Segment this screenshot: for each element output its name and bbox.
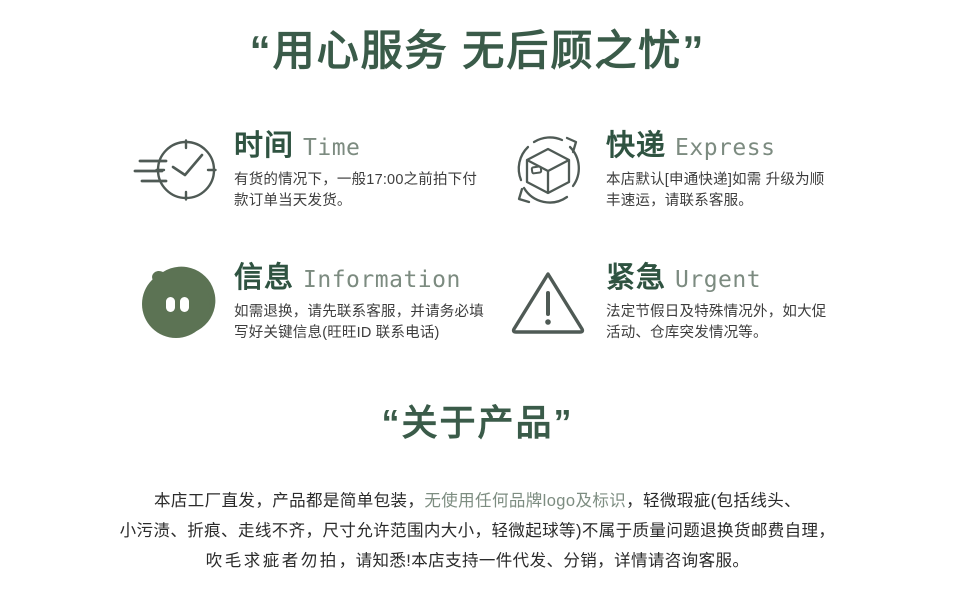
- feature-desc-urgent: 法定节假日及特殊情况外，如大促活动、仓库突发情况等。: [606, 302, 838, 344]
- feature-body-time: 时间Time 有货的情况下，一般17:00之前拍下付款订单当天发货。: [234, 126, 484, 212]
- service-info-page: “用心服务 无后顾之忧” 时间Time: [0, 0, 955, 600]
- feature-body-express: 快递Express 本店默认[申通快递]如需 升级为顺丰速运，请联系客服。: [606, 126, 838, 212]
- about-line-3-rest: ，请知悉!本店支持一件代发、分销，详情请咨询客服。: [339, 552, 750, 570]
- about-line-2: 小污渍、折痕、走线不齐，尺寸允许范围内大小，轻微起球等)不属于质量问题退换货邮费…: [0, 516, 955, 546]
- feature-item-urgent: 紧急Urgent 法定节假日及特殊情况外，如大促活动、仓库突发情况等。: [504, 258, 838, 390]
- product-headline: “关于产品”: [0, 400, 955, 446]
- feature-item-information: 信息Information 如需退换，请先联系客服，并请务必填写好关键信息(旺旺…: [132, 258, 504, 390]
- about-line-3-spaced: 吹毛求疵者勿拍: [206, 552, 339, 570]
- feature-title-urgent: 紧急Urgent: [606, 264, 838, 293]
- feature-title-express: 快递Express: [606, 132, 838, 161]
- feature-title-cn-time: 时间: [234, 130, 294, 162]
- package-rotate-icon: [504, 126, 592, 214]
- feature-title-en-urgent: Urgent: [675, 267, 761, 293]
- feature-title-en-information: Information: [303, 267, 461, 293]
- feature-body-urgent: 紧急Urgent 法定节假日及特殊情况外，如大促活动、仓库突发情况等。: [606, 258, 838, 344]
- feature-title-cn-express: 快递: [606, 130, 666, 162]
- about-line-1-highlight: 无使用任何品牌logo及标识: [424, 492, 626, 510]
- feature-title-en-express: Express: [675, 135, 775, 161]
- service-headline: “用心服务 无后顾之忧”: [0, 26, 955, 76]
- feature-desc-time: 有货的情况下，一般17:00之前拍下付款订单当天发货。: [234, 170, 484, 212]
- feature-item-express: 快递Express 本店默认[申通快递]如需 升级为顺丰速运，请联系客服。: [504, 126, 838, 258]
- speech-bubble-icon: [132, 258, 220, 346]
- clock-speed-icon: [132, 126, 220, 214]
- about-product-paragraph: 本店工厂直发，产品都是简单包装，无使用任何品牌logo及标识，轻微瑕疵(包括线头…: [0, 486, 955, 576]
- feature-grid: 时间Time 有货的情况下，一般17:00之前拍下付款订单当天发货。: [132, 126, 838, 390]
- about-line-1: 本店工厂直发，产品都是简单包装，无使用任何品牌logo及标识，轻微瑕疵(包括线头…: [0, 486, 955, 516]
- feature-title-en-time: Time: [303, 135, 360, 161]
- feature-item-time: 时间Time 有货的情况下，一般17:00之前拍下付款订单当天发货。: [132, 126, 504, 258]
- about-line-1-part-b: ，轻微瑕疵(包括线头、: [626, 492, 801, 510]
- feature-body-information: 信息Information 如需退换，请先联系客服，并请务必填写好关键信息(旺旺…: [234, 258, 484, 344]
- about-line-3: 吹毛求疵者勿拍，请知悉!本店支持一件代发、分销，详情请咨询客服。: [0, 546, 955, 576]
- warning-triangle-icon: [504, 258, 592, 346]
- feature-desc-information: 如需退换，请先联系客服，并请务必填写好关键信息(旺旺ID 联系电话): [234, 302, 484, 344]
- feature-title-cn-information: 信息: [234, 262, 294, 294]
- feature-title-information: 信息Information: [234, 264, 484, 293]
- feature-title-time: 时间Time: [234, 132, 484, 161]
- about-line-1-part-a: 本店工厂直发，产品都是简单包装，: [154, 492, 424, 510]
- feature-title-cn-urgent: 紧急: [606, 262, 666, 294]
- feature-desc-express: 本店默认[申通快递]如需 升级为顺丰速运，请联系客服。: [606, 170, 838, 212]
